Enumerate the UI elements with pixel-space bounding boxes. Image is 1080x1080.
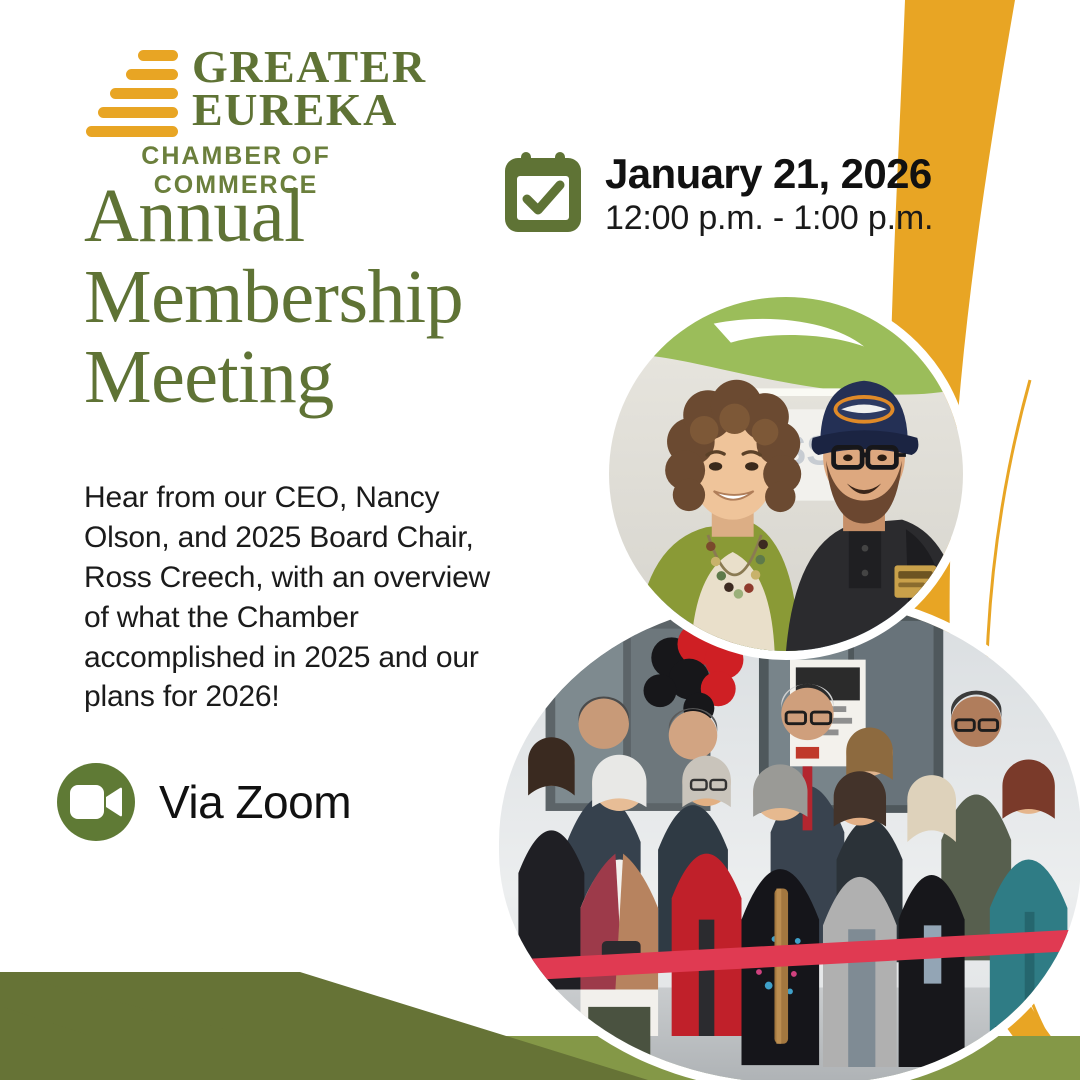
calendar-check-icon — [503, 152, 583, 234]
headline-line-1: Annual — [84, 176, 554, 257]
page-title: Annual Membership Meeting — [84, 176, 554, 418]
ceo-board-chair-illustration: SS — [609, 297, 963, 651]
headline-line-3: Meeting — [84, 337, 554, 418]
event-flyer: GREATER EUREKA CHAMBER OF COMMERCE Annua… — [0, 0, 1080, 1080]
video-camera-glyph — [70, 785, 122, 819]
logo-line-greater: GREATER — [192, 46, 427, 89]
photo-ribbon-cutting-group — [490, 592, 1080, 1080]
event-time: 12:00 p.m. - 1:00 p.m. — [605, 198, 933, 239]
photo-ceo-and-board-chair: SS — [600, 288, 972, 660]
event-location: Via Zoom — [57, 763, 351, 841]
video-camera-icon — [57, 763, 135, 841]
event-datetime: January 21, 2026 12:00 p.m. - 1:00 p.m. — [503, 152, 933, 239]
location-label: Via Zoom — [159, 775, 351, 829]
event-description: Hear from our CEO, Nancy Olson, and 2025… — [84, 478, 520, 717]
ribbon-cutting-illustration — [499, 601, 1080, 1080]
headline-line-2: Membership — [84, 257, 554, 338]
event-date: January 21, 2026 — [605, 152, 933, 196]
logo-line-eureka: EUREKA — [192, 89, 427, 132]
stepped-bars-icon — [86, 44, 178, 132]
